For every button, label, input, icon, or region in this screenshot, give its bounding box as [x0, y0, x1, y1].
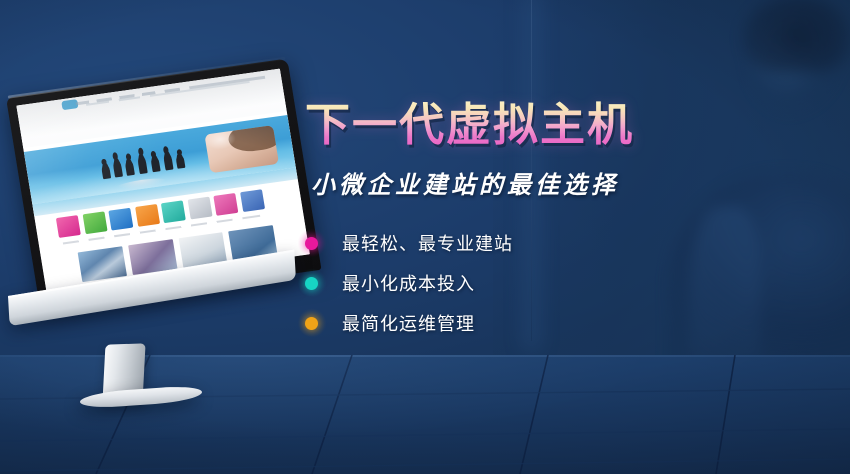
app-icon-4 — [135, 204, 160, 227]
app-icon-3 — [109, 207, 134, 230]
app-icon-5 — [161, 200, 186, 223]
desktop-monitor — [6, 98, 306, 418]
bullet-dot-orange — [305, 317, 318, 330]
feature-list-item: 最简化运维管理 — [305, 310, 775, 336]
person-hair — [742, 0, 850, 72]
app-icon-8 — [240, 189, 265, 212]
feature-label: 最轻松、最专业建站 — [342, 230, 513, 256]
app-icon-6 — [187, 196, 212, 219]
app-icon-1 — [56, 215, 81, 238]
banner-stage: 下一代虚拟主机 小微企业建站的最佳选择 最轻松、最专业建站 最小化成本投入 最简… — [0, 0, 850, 474]
subheadline: 小微企业建站的最佳选择 — [311, 165, 775, 200]
feature-list: 最轻松、最专业建站 最小化成本投入 最简化运维管理 — [305, 230, 775, 336]
website-subnav-bar — [86, 81, 250, 106]
feature-label: 最小化成本投入 — [342, 270, 475, 296]
feature-list-item: 最小化成本投入 — [305, 270, 775, 296]
bullet-dot-teal — [305, 277, 318, 290]
app-icon-2 — [82, 211, 107, 234]
headline: 下一代虚拟主机 — [305, 98, 775, 151]
bullet-dot-magenta — [305, 237, 318, 250]
feature-label: 最简化运维管理 — [342, 310, 475, 336]
app-icon-7 — [214, 193, 239, 216]
monitor-stand-base — [77, 385, 205, 410]
feature-list-item: 最轻松、最专业建站 — [305, 230, 775, 256]
marketing-copy: 下一代虚拟主机 小微企业建站的最佳选择 最轻松、最专业建站 最小化成本投入 最简… — [305, 98, 775, 350]
